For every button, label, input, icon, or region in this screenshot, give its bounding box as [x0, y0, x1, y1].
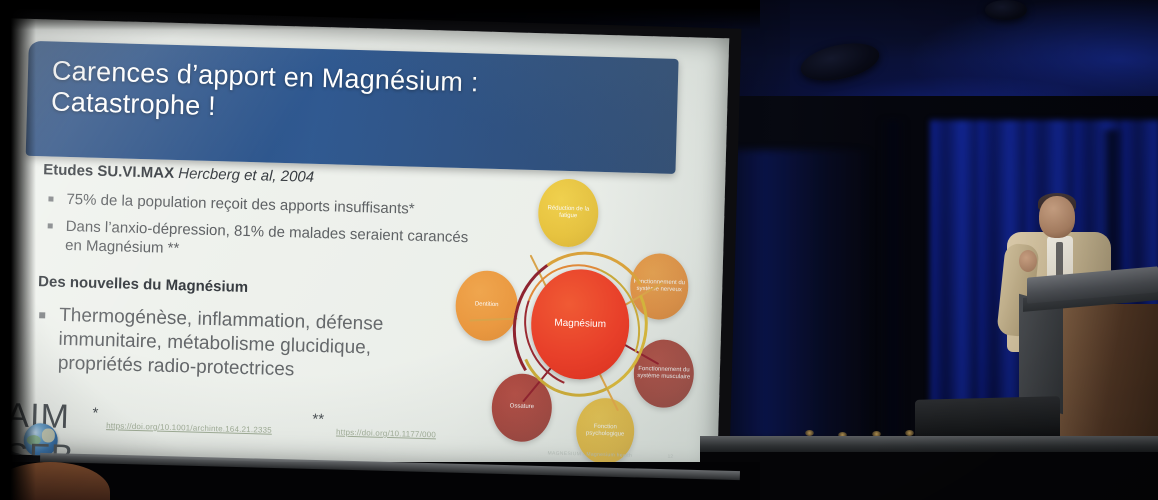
- slide: Carences d’apport en Magnésium : Catastr…: [0, 18, 729, 474]
- screen-surface: Carences d’apport en Magnésium : Catastr…: [0, 18, 729, 474]
- footnote-link-1[interactable]: https://doi.org/10.1001/archinte.164.21.…: [106, 421, 272, 435]
- lectern-highlight: [1053, 304, 1158, 448]
- study-heading: Etudes SU.VI.MAX Hercberg et al, 2004: [43, 161, 314, 186]
- slide-page-number: 12: [667, 454, 673, 460]
- slide-title: Carences d’apport en Magnésium : Catastr…: [51, 55, 662, 134]
- footnote-marker-1: *: [92, 405, 98, 422]
- lectern: [1045, 272, 1158, 448]
- speaker-hand: [1019, 250, 1037, 272]
- bullet-item: 75% de la population reçoit des apports …: [46, 189, 476, 220]
- speaker-head: [1039, 196, 1075, 238]
- footnote-marker-2: **: [312, 411, 324, 428]
- study-name: Etudes SU.VI.MAX: [43, 161, 174, 182]
- diagram-node-dentition: Dentition: [455, 270, 519, 342]
- diagram-node-reduction-fatigue: Réduction de la fatigue: [537, 178, 599, 248]
- footnote-link-2[interactable]: https://doi.org/10.1177/000: [336, 428, 436, 440]
- slide-title-bar: Carences d’apport en Magnésium : Catastr…: [26, 41, 679, 174]
- magnesium-bubble-diagram: Magnésium Réduction de la fatigue Foncti…: [435, 175, 713, 472]
- ceiling-light-fixture: [985, 0, 1027, 20]
- presentation-photo: Carences d’apport en Magnésium : Catastr…: [0, 0, 1158, 500]
- bullet-item: Dans l’anxio-dépression, 81% de malades …: [45, 216, 476, 266]
- stage-front: [700, 452, 1158, 500]
- top-shadow: [0, 0, 760, 30]
- projection-screen: Carences d’apport en Magnésium : Catastr…: [0, 0, 760, 491]
- left-shadow: [0, 0, 36, 500]
- bullet-list-news: Thermogénèse, inflammation, défense immu…: [36, 303, 458, 387]
- section-heading: Des nouvelles du Magnésium: [38, 273, 248, 296]
- bullet-item: Thermogénèse, inflammation, défense immu…: [36, 303, 458, 387]
- diagram-caption: MAGNESIUM - Magnesium health: [547, 450, 632, 458]
- study-citation: Hercberg et al, 2004: [174, 165, 315, 186]
- curtain-fold: [880, 120, 906, 440]
- bullet-list-study: 75% de la population reçoit des apports …: [45, 189, 477, 274]
